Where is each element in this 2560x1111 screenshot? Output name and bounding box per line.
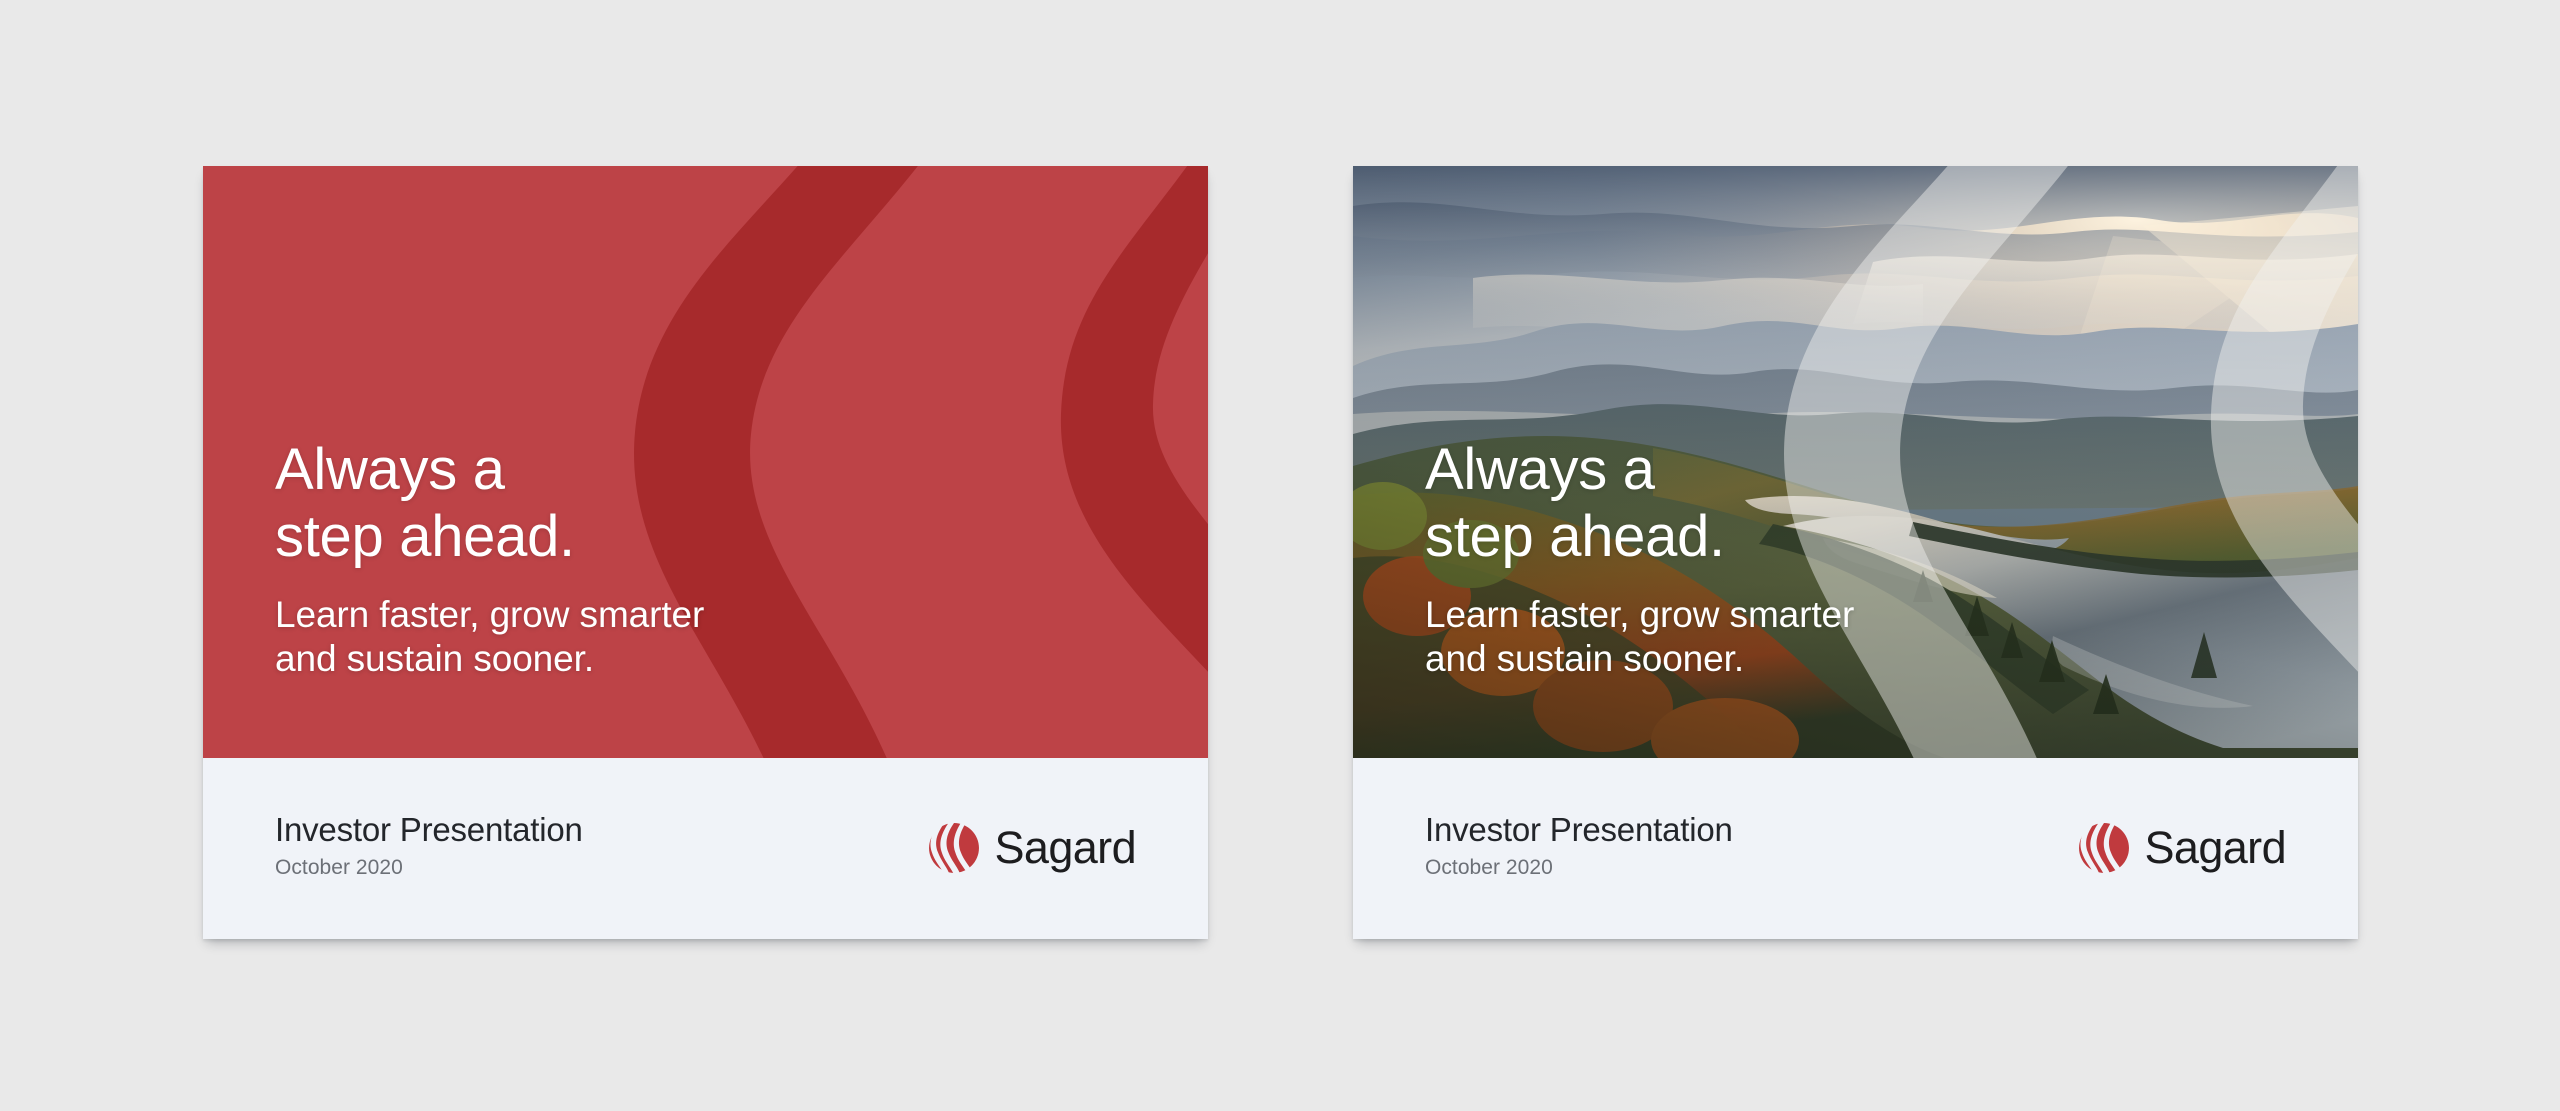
slide-hero-solid: Always a step ahead. Learn faster, grow … bbox=[203, 166, 1208, 758]
slide-hero-text: Always a step ahead. Learn faster, grow … bbox=[1425, 437, 1854, 680]
footer-text-group: Investor Presentation October 2020 bbox=[1425, 811, 1733, 886]
slide-subheadline: Learn faster, grow smarter and sustain s… bbox=[1425, 593, 1854, 680]
sagard-wordmark: Sagard bbox=[2144, 825, 2286, 870]
slide-headline: Always a step ahead. bbox=[275, 437, 704, 571]
sagard-logo[interactable]: Sagard bbox=[2078, 822, 2286, 876]
slide-footer: Investor Presentation October 2020 Sagar… bbox=[203, 758, 1208, 939]
footer-date: October 2020 bbox=[275, 856, 583, 880]
slide-hero-photo: Always a step ahead. Learn faster, grow … bbox=[1353, 166, 2358, 758]
sagard-logo[interactable]: Sagard bbox=[928, 822, 1136, 876]
slide-card-photo[interactable]: Always a step ahead. Learn faster, grow … bbox=[1353, 166, 2358, 939]
footer-text-group: Investor Presentation October 2020 bbox=[275, 811, 583, 886]
slide-footer: Investor Presentation October 2020 Sagar… bbox=[1353, 758, 2358, 939]
slide-hero-text: Always a step ahead. Learn faster, grow … bbox=[275, 437, 704, 680]
footer-title: Investor Presentation bbox=[275, 811, 583, 849]
sagard-logo-mark-icon bbox=[928, 822, 980, 874]
sagard-logo-mark-icon bbox=[2078, 822, 2130, 874]
slide-gallery: Always a step ahead. Learn faster, grow … bbox=[0, 0, 2560, 1111]
slide-card-solid[interactable]: Always a step ahead. Learn faster, grow … bbox=[203, 166, 1208, 939]
footer-date: October 2020 bbox=[1425, 856, 1733, 880]
footer-title: Investor Presentation bbox=[1425, 811, 1733, 849]
slide-subheadline: Learn faster, grow smarter and sustain s… bbox=[275, 593, 704, 680]
sagard-wordmark: Sagard bbox=[994, 825, 1136, 870]
slide-headline: Always a step ahead. bbox=[1425, 437, 1854, 571]
